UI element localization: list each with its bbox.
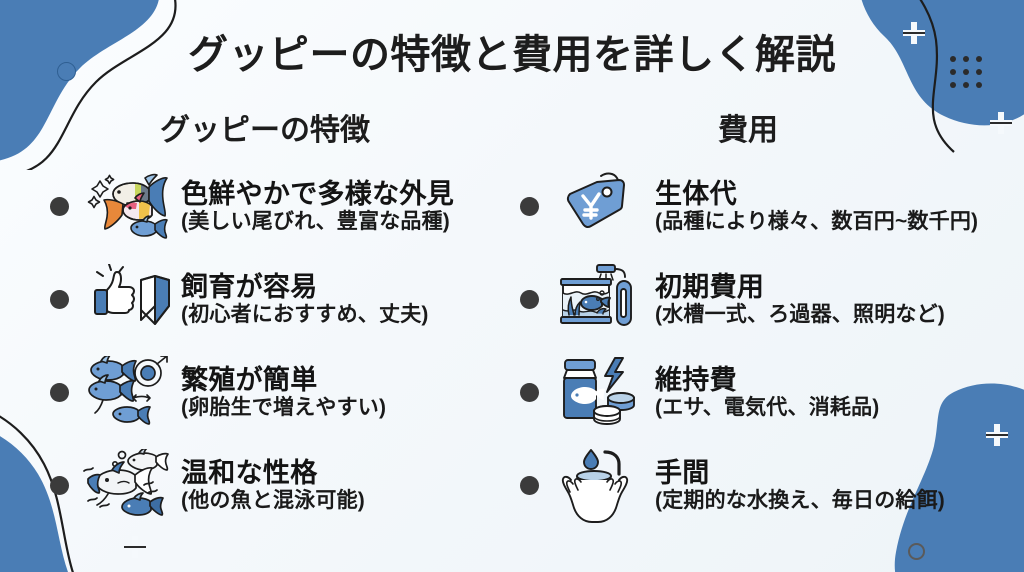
list-item: 飼育が容易 (初心者におすすめ、丈夫) xyxy=(50,253,520,346)
list-item-title: 温和な性格 xyxy=(181,459,520,488)
aquarium-tank-icon xyxy=(551,261,647,339)
colorful-guppies-icon xyxy=(81,168,173,246)
list-item-text: 温和な性格 (他の魚と混泳可能) xyxy=(181,459,520,513)
list-item-text: 維持費 (エサ、電気代、消耗品) xyxy=(655,366,1020,420)
list-item-title: 維持費 xyxy=(655,366,1020,395)
list-item-title: 色鮮やかで多様な外見 xyxy=(181,180,520,209)
list-item: 生体代 (品種により様々、数百円~数千円) xyxy=(520,160,1020,253)
list-item-subtitle: (水槽一式、ろ過器、照明など) xyxy=(655,304,1020,327)
list-item-text: 飼育が容易 (初心者におすすめ、丈夫) xyxy=(181,273,520,327)
list-item: 維持費 (エサ、電気代、消耗品) xyxy=(520,346,1020,439)
breeding-fish-male-symbol-icon xyxy=(81,354,173,432)
hands-water-bucket-icon xyxy=(551,447,647,525)
list-item: 初期費用 (水槽一式、ろ過器、照明など) xyxy=(520,253,1020,346)
yen-price-tag-icon xyxy=(551,168,647,246)
list-item-title: 初期費用 xyxy=(655,273,1020,302)
list-item-text: 初期費用 (水槽一式、ろ過器、照明など) xyxy=(655,273,1020,327)
bullet-dot xyxy=(50,383,69,402)
list-item-title: 繁殖が簡単 xyxy=(181,366,520,395)
bullet-dot xyxy=(50,476,69,495)
list-item-subtitle: (品種により様々、数百円~数千円) xyxy=(655,211,1020,234)
bullet-dot xyxy=(50,197,69,216)
slide-canvas: グッピーの特徴と費用を詳しく解説 グッピーの特徴 費用 xyxy=(0,0,1024,572)
bullet-dot xyxy=(50,290,69,309)
list-item-title: 飼育が容易 xyxy=(181,273,520,302)
features-column: 色鮮やかで多様な外見 (美しい尾びれ、豊富な品種) xyxy=(50,160,520,532)
list-item-text: 色鮮やかで多様な外見 (美しい尾びれ、豊富な品種) xyxy=(181,180,520,234)
list-item: 温和な性格 (他の魚と混泳可能) xyxy=(50,439,520,532)
food-jar-electricity-coins-icon xyxy=(551,354,647,432)
bullet-dot xyxy=(520,476,539,495)
peaceful-fish-school-icon xyxy=(81,447,173,525)
bullet-dot xyxy=(520,290,539,309)
list-item-subtitle: (エサ、電気代、消耗品) xyxy=(655,397,1020,420)
list-item-subtitle: (定期的な水換え、毎日の給餌) xyxy=(655,490,1020,513)
plus-mark-bottom-left xyxy=(124,536,146,558)
section-heading-features: グッピーの特徴 xyxy=(160,105,370,149)
list-item-subtitle: (卵胎生で増えやすい) xyxy=(181,397,520,420)
section-heading-cost: 費用 xyxy=(718,105,778,149)
list-item-title: 生体代 xyxy=(655,180,1020,209)
list-item-text: 手間 (定期的な水換え、毎日の給餌) xyxy=(655,459,1020,513)
list-item-subtitle: (美しい尾びれ、豊富な品種) xyxy=(181,211,520,234)
list-item: 繁殖が簡単 (卵胎生で増えやすい) xyxy=(50,346,520,439)
outlined-circle-bottom-right xyxy=(908,543,925,560)
bullet-dot xyxy=(520,197,539,216)
list-item-text: 繁殖が簡単 (卵胎生で増えやすい) xyxy=(181,366,520,420)
list-item: 手間 (定期的な水換え、毎日の給餌) xyxy=(520,439,1020,532)
bullet-dot xyxy=(520,383,539,402)
page-title: グッピーの特徴と費用を詳しく解説 xyxy=(0,22,1024,80)
thumbs-up-beginner-mark-icon xyxy=(81,261,173,339)
cost-column: 生体代 (品種により様々、数百円~数千円) xyxy=(520,160,1020,532)
list-item-title: 手間 xyxy=(655,459,1020,488)
list-item-text: 生体代 (品種により様々、数百円~数千円) xyxy=(655,180,1020,234)
list-item-subtitle: (初心者におすすめ、丈夫) xyxy=(181,304,520,327)
list-item-subtitle: (他の魚と混泳可能) xyxy=(181,490,520,513)
plus-mark-right-upper xyxy=(990,112,1012,134)
list-item: 色鮮やかで多様な外見 (美しい尾びれ、豊富な品種) xyxy=(50,160,520,253)
